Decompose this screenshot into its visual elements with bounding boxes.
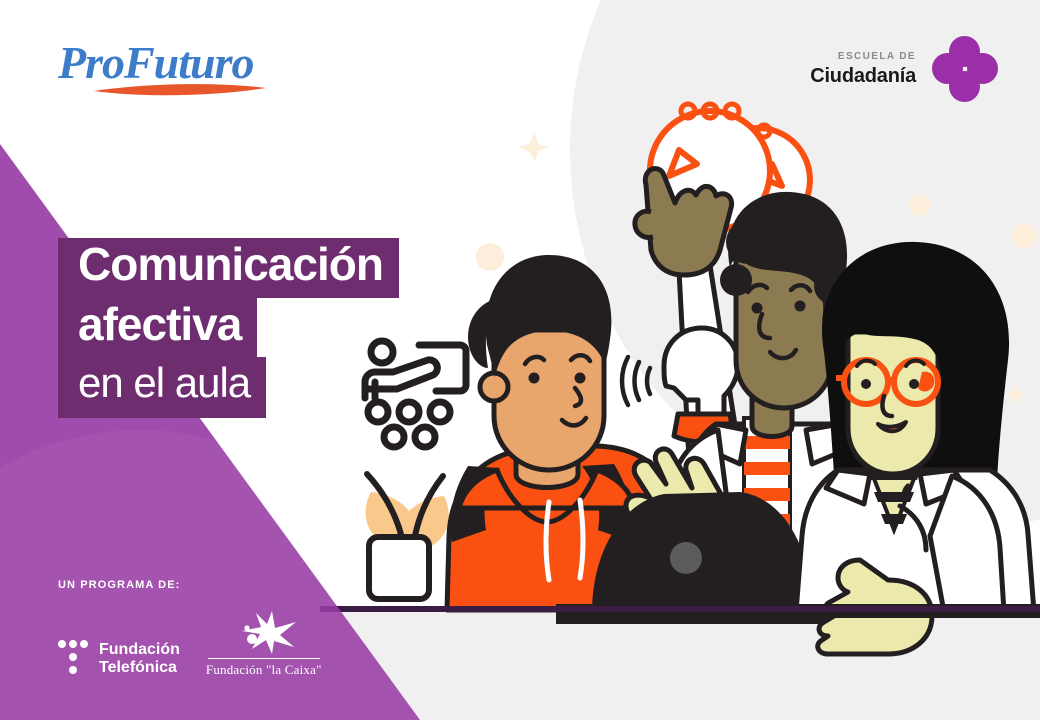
telefonica-dot-2 [69, 640, 77, 648]
telefonica-dots-icon [58, 640, 88, 678]
desk [320, 604, 1040, 618]
potted-plant [366, 474, 449, 599]
telefonica-dot-4 [69, 653, 77, 661]
svg-text:ProFuturo: ProFuturo [58, 37, 254, 88]
fundacion-telefonica-line-1: Fundación [99, 641, 180, 659]
escuela-kicker: ESCUELA DE [810, 52, 916, 62]
la-caixa-rule [208, 658, 320, 660]
fundacion-telefonica-text: Fundación Telefónica [99, 641, 180, 677]
profuturo-logo[interactable]: ProFuturo [58, 36, 288, 102]
telefonica-dot-5 [69, 666, 77, 674]
page-title: Comunicación afectiva en el aula [58, 238, 399, 418]
fundacion-telefonica-logo[interactable]: Fundación Telefónica [58, 640, 180, 678]
slide-root: ProFuturo ESCUELA DE Ciudadanía Comunica… [0, 0, 1040, 720]
fundacion-la-caixa-logo[interactable]: Fundación "la Caixa" [206, 609, 322, 679]
footer-sponsors: UN PROGRAMA DE: Fundación Telefónica [58, 579, 322, 679]
escuela-ciudadania-text: ESCUELA DE Ciudadanía [810, 52, 916, 86]
la-caixa-star-icon [228, 609, 300, 655]
petal-left-icon [932, 53, 963, 84]
footer-kicker: UN PROGRAMA DE: [58, 579, 322, 591]
title-line-2: afectiva [58, 298, 257, 358]
profuturo-wordmark-icon: ProFuturo [58, 36, 288, 102]
fundacion-telefonica-line-2: Telefónica [99, 659, 180, 677]
telefonica-dot-1 [58, 640, 66, 648]
escuela-ciudadania-logo[interactable]: ESCUELA DE Ciudadanía [810, 36, 998, 102]
escuela-flower-icon [932, 36, 998, 102]
title-line-3: en el aula [58, 357, 266, 418]
telefonica-dot-3 [80, 640, 88, 648]
footer-logo-row: Fundación Telefónica Fundación "la Caixa… [58, 609, 322, 679]
escuela-name: Ciudadanía [810, 66, 916, 86]
title-line-1: Comunicación [58, 238, 399, 298]
la-caixa-text: Fundación "la Caixa" [206, 662, 322, 678]
